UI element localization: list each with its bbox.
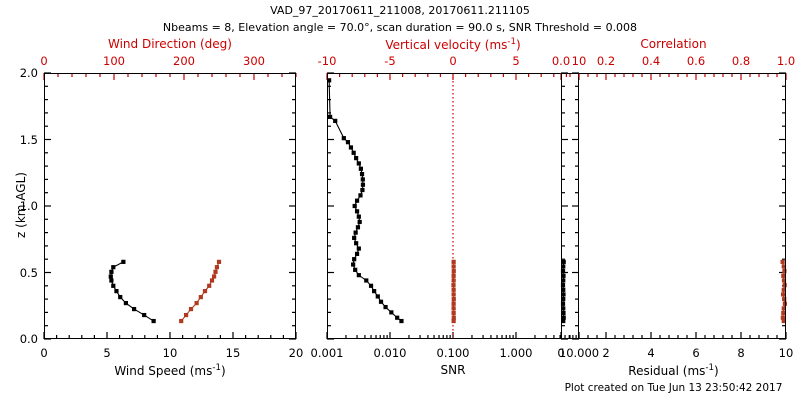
top-axis-tick-label: -5 xyxy=(384,54,395,68)
data-point xyxy=(452,264,456,268)
data-point xyxy=(782,319,786,323)
plot-subtitle: Nbeams = 8, Elevation angle = 70.0°, sca… xyxy=(0,21,800,34)
data-point xyxy=(452,260,456,264)
data-point xyxy=(452,319,456,323)
data-point xyxy=(452,292,456,296)
data-point xyxy=(561,302,565,306)
data-point xyxy=(210,278,214,282)
data-point xyxy=(109,278,113,282)
data-point xyxy=(352,257,356,261)
data-point xyxy=(109,270,113,274)
data-point xyxy=(783,302,787,306)
data-point xyxy=(355,252,359,256)
bottom-axis-title: Residual (ms-1) xyxy=(561,363,786,378)
data-point xyxy=(782,306,786,310)
data-point xyxy=(357,246,361,250)
data-point xyxy=(358,193,362,197)
data-point xyxy=(352,151,356,155)
data-point xyxy=(379,300,383,304)
data-point xyxy=(357,273,361,277)
data-point xyxy=(109,274,113,278)
data-point xyxy=(783,283,787,287)
data-point xyxy=(114,289,118,293)
bottom-axis-tick-label: 4 xyxy=(647,346,654,360)
bottom-axis-tick-label: 10.000 xyxy=(559,346,599,360)
bottom-axis-tick-label: 20 xyxy=(289,346,304,360)
data-point xyxy=(451,283,455,287)
data-point xyxy=(327,78,331,82)
data-point xyxy=(359,167,363,171)
data-point xyxy=(212,274,216,278)
data-point xyxy=(561,288,565,292)
data-point xyxy=(111,265,115,269)
bottom-axis-tick-label: 2 xyxy=(602,346,609,360)
data-point xyxy=(215,265,219,269)
bottom-axis-tick-label: 1.000 xyxy=(500,346,533,360)
data-point xyxy=(452,288,456,292)
top-axis-tick-label: 0 xyxy=(40,54,47,68)
bottom-axis-tick-label: 8 xyxy=(737,346,744,360)
data-point xyxy=(353,204,357,208)
bottom-axis-tick-label: 10 xyxy=(163,346,178,360)
data-point xyxy=(333,119,337,123)
page-title: VAD_97_20170611_211008, 20170611.211105 xyxy=(0,4,800,17)
wind-plot-canvas xyxy=(44,73,296,339)
data-point xyxy=(354,156,358,160)
data-point xyxy=(372,289,376,293)
data-point xyxy=(132,307,136,311)
data-point xyxy=(782,288,786,292)
data-point xyxy=(217,260,221,264)
panel-wind-profile xyxy=(44,73,296,339)
data-point xyxy=(452,269,456,273)
data-point xyxy=(142,313,146,317)
bottom-axis-title: SNR xyxy=(327,363,579,377)
top-axis-tick-label: 0.0 xyxy=(552,54,570,68)
data-point xyxy=(342,136,346,140)
data-point xyxy=(199,295,203,299)
data-point xyxy=(452,278,456,282)
data-point xyxy=(124,301,128,305)
data-point xyxy=(358,220,362,224)
bottom-axis-tick-label: 0 xyxy=(557,346,564,360)
data-point xyxy=(118,295,122,299)
data-point xyxy=(357,161,361,165)
panel-snr-profile xyxy=(327,73,579,339)
data-point xyxy=(203,289,207,293)
data-point xyxy=(781,274,785,278)
data-point xyxy=(561,278,565,282)
data-point xyxy=(364,278,368,282)
bottom-axis-tick-label: 0.100 xyxy=(437,346,470,360)
data-point xyxy=(207,284,211,288)
data-point xyxy=(369,284,373,288)
data-point xyxy=(184,313,188,317)
data-point xyxy=(357,215,361,219)
data-point xyxy=(561,306,565,310)
top-axis-tick-label: -10 xyxy=(318,54,337,68)
residual-plot-canvas xyxy=(561,73,786,339)
data-point xyxy=(346,140,350,144)
data-point xyxy=(395,316,399,320)
data-point xyxy=(361,183,365,187)
y-axis-tick-label: 2.0 xyxy=(4,66,38,80)
top-axis-tick-label: 0.8 xyxy=(732,54,750,68)
bottom-axis-tick-label: 5 xyxy=(103,346,110,360)
data-point xyxy=(328,115,332,119)
top-axis-tick-label: 0.2 xyxy=(597,54,615,68)
data-point xyxy=(399,319,403,323)
bottom-axis-tick-label: 0.001 xyxy=(311,346,344,360)
data-point xyxy=(452,302,456,306)
data-point xyxy=(782,278,786,282)
data-point xyxy=(195,301,199,305)
bottom-axis-tick-label: 10 xyxy=(779,346,794,360)
top-axis-tick-label: 5 xyxy=(512,54,519,68)
data-point xyxy=(352,236,356,240)
data-point xyxy=(561,269,565,273)
data-point xyxy=(781,260,785,264)
snr-plot-canvas xyxy=(327,73,579,339)
data-point xyxy=(452,311,456,315)
data-point xyxy=(561,292,565,296)
top-axis-title: Vertical velocity (ms-1) xyxy=(327,37,579,52)
top-axis-tick-label: 1.0 xyxy=(777,54,795,68)
data-point xyxy=(189,307,193,311)
data-point xyxy=(561,319,565,323)
data-point xyxy=(356,225,360,229)
data-point xyxy=(351,262,355,266)
y-axis-tick-label: 0.0 xyxy=(4,332,38,346)
data-point xyxy=(152,319,156,323)
data-point xyxy=(354,241,358,245)
top-axis-title: Correlation xyxy=(561,37,786,51)
y-axis-tick-label: 1.5 xyxy=(4,133,38,147)
data-point xyxy=(383,305,387,309)
data-point xyxy=(561,297,565,301)
data-point xyxy=(360,188,364,192)
data-point xyxy=(389,310,393,314)
y-axis-tick-label: 1.0 xyxy=(4,199,38,213)
data-point xyxy=(353,268,357,272)
data-point xyxy=(355,199,359,203)
y-axis-tick-label: 0.5 xyxy=(4,266,38,280)
data-point xyxy=(121,260,125,264)
data-point xyxy=(782,264,786,268)
data-point xyxy=(561,264,565,268)
data-point xyxy=(782,297,786,301)
data-line-wind-direction xyxy=(181,262,219,321)
bottom-axis-tick-label: 15 xyxy=(226,346,241,360)
top-axis-title: Wind Direction (deg) xyxy=(44,37,296,51)
data-point xyxy=(349,145,353,149)
data-point xyxy=(562,260,566,264)
top-axis-tick-label: 0.4 xyxy=(642,54,660,68)
data-point xyxy=(213,270,217,274)
data-point xyxy=(376,294,380,298)
data-point xyxy=(354,231,358,235)
bottom-axis-tick-label: 0 xyxy=(40,346,47,360)
top-axis-tick-label: 0.6 xyxy=(687,54,705,68)
top-axis-tick-label: 200 xyxy=(173,54,195,68)
panel-residual-profile xyxy=(561,73,786,339)
data-point xyxy=(452,306,456,310)
bottom-axis-title: Wind Speed (ms-1) xyxy=(44,363,296,378)
data-point xyxy=(782,269,786,273)
data-line-snr xyxy=(329,80,401,321)
top-axis-tick-label: 300 xyxy=(243,54,265,68)
data-point xyxy=(561,283,565,287)
data-point xyxy=(179,319,183,323)
data-point xyxy=(355,209,359,213)
data-point xyxy=(781,311,785,315)
vad-plot-page: VAD_97_20170611_211008, 20170611.211105 … xyxy=(0,0,800,400)
data-point xyxy=(561,311,565,315)
data-point xyxy=(561,274,565,278)
data-point xyxy=(781,292,785,296)
top-axis-tick-label: 10 xyxy=(572,54,587,68)
top-axis-tick-label: 100 xyxy=(103,54,125,68)
bottom-axis-tick-label: 0.010 xyxy=(374,346,407,360)
top-axis-tick-label: 0 xyxy=(449,54,456,68)
data-point xyxy=(111,284,115,288)
plot-timestamp-footer: Plot created on Tue Jun 13 23:50:42 2017 xyxy=(521,382,800,394)
data-point xyxy=(361,177,365,181)
data-point xyxy=(360,172,364,176)
bottom-axis-tick-label: 6 xyxy=(692,346,699,360)
data-point xyxy=(452,297,456,301)
data-point xyxy=(452,274,456,278)
